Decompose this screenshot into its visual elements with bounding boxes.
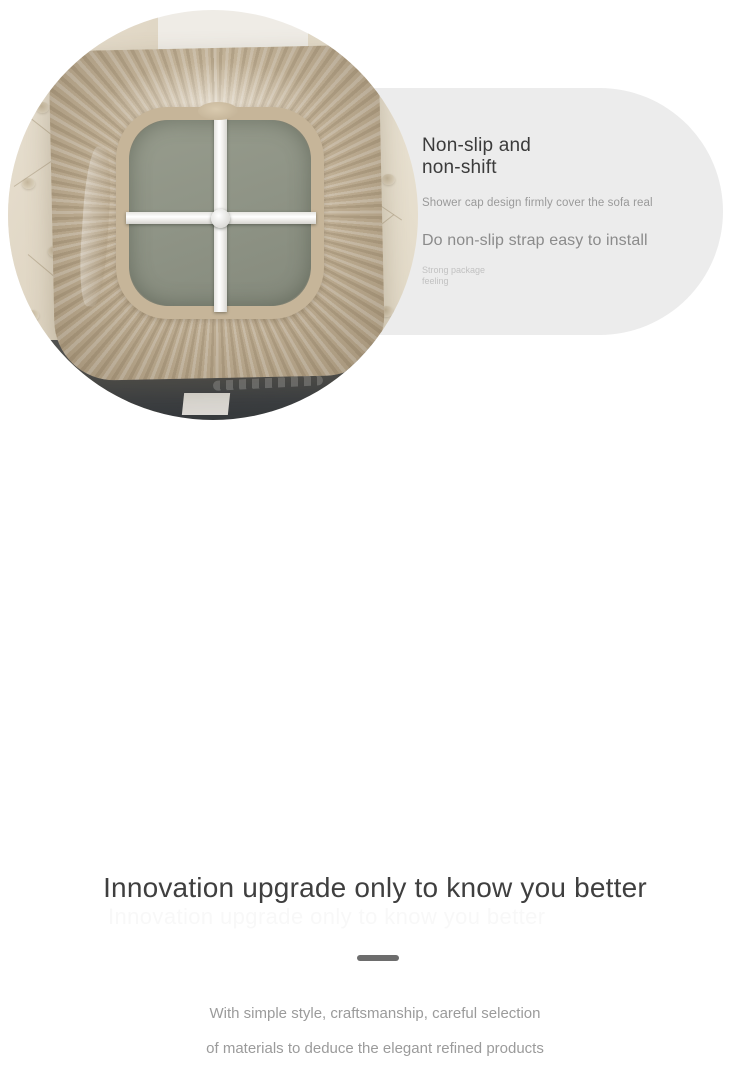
bottom-section: Innovation upgrade only to know you bett… xyxy=(0,430,750,634)
strap-cross-knot xyxy=(211,209,230,228)
tuft-button xyxy=(382,174,395,185)
panel-headline-line-2: non-shift xyxy=(422,157,531,179)
description-line-1: With simple style, craftsmanship, carefu… xyxy=(0,996,750,1031)
tuft-button xyxy=(26,310,39,321)
ghost-watermark-text: Innovation upgrade only to know you bett… xyxy=(108,904,668,930)
panel-headline: Non-slip and non-shift xyxy=(422,135,531,179)
description-line-2: of materials to deduce the elegant refin… xyxy=(0,1031,750,1066)
elastic-gather-knot xyxy=(198,102,238,120)
panel-subtext-tertiary: Strong package feeling xyxy=(422,265,485,287)
description-paragraph: With simple style, craftsmanship, carefu… xyxy=(0,996,750,1066)
product-label-tag xyxy=(182,393,230,415)
product-photo-illustration xyxy=(8,10,418,420)
panel-subtext-primary: Shower cap design firmly cover the sofa … xyxy=(422,197,653,209)
panel-headline-line-1: Non-slip and xyxy=(422,135,531,157)
panel-subtext-tertiary-line-1: Strong package xyxy=(422,265,485,276)
panel-subtext-secondary: Do non-slip strap easy to install xyxy=(422,232,648,250)
panel-subtext-tertiary-line-2: feeling xyxy=(422,276,485,287)
hero-section: Non-slip and non-shift Shower cap design… xyxy=(0,0,750,430)
tuft-button xyxy=(36,102,49,113)
divider-bar xyxy=(357,955,399,961)
product-photo-circle xyxy=(8,10,418,420)
tagline-heading: Innovation upgrade only to know you bett… xyxy=(0,872,750,904)
